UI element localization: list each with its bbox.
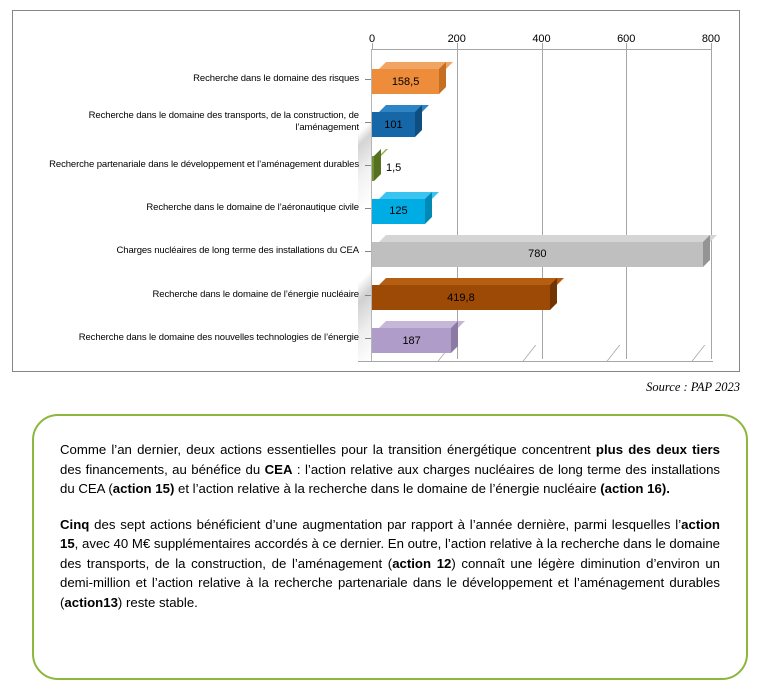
- category-tick-mark: [365, 165, 371, 166]
- commentary-box: Comme l’an dernier, deux actions essenti…: [32, 414, 748, 680]
- gridline: [457, 49, 458, 359]
- category-label: Recherche dans le domaine des nouvelles …: [29, 324, 359, 352]
- bar[interactable]: 780: [372, 235, 710, 260]
- bar-front-face: [372, 69, 439, 94]
- emphasis-text: action13: [64, 595, 118, 610]
- bar[interactable]: 1,5: [372, 149, 381, 174]
- emphasis-text: action 15): [113, 481, 175, 496]
- category-tick-mark: [365, 208, 371, 209]
- commentary-paragraph-2: Cinq des sept actions bénéficient d’une …: [60, 515, 720, 613]
- axis-tick-mark: [372, 43, 373, 49]
- bar[interactable]: 419,8: [372, 278, 557, 303]
- bar-value-label: 1,5: [386, 156, 426, 181]
- bar-side-face: [703, 235, 710, 267]
- category-label: Recherche dans le domaine de l’aéronauti…: [29, 194, 359, 222]
- commentary-paragraph-1: Comme l’an dernier, deux actions essenti…: [60, 440, 720, 499]
- floor-depth-line: [607, 345, 635, 361]
- emphasis-text: Cinq: [60, 517, 89, 532]
- bar[interactable]: 158,5: [372, 62, 446, 87]
- bar-side-face: [415, 105, 422, 137]
- floor-depth-line: [692, 345, 720, 361]
- bar-side-face: [439, 62, 446, 94]
- category-tick-mark: [365, 79, 371, 80]
- plot-area: 0200400600800 Recherche dans le domaine …: [13, 11, 739, 371]
- bar-front-face: [372, 199, 425, 224]
- source-note: Source : PAP 2023: [646, 380, 740, 395]
- category-label: Recherche dans le domaine des transports…: [29, 108, 359, 136]
- gridline: [542, 49, 543, 359]
- emphasis-text: plus des deux tiers: [596, 442, 720, 457]
- category-label: Recherche dans le domaine des risques: [29, 65, 359, 93]
- emphasis-text: CEA: [265, 462, 293, 477]
- bar-front-face: [372, 285, 550, 310]
- bar-side-face: [374, 149, 381, 181]
- emphasis-text: action 12: [392, 556, 451, 571]
- floor-depth-line: [522, 345, 550, 361]
- category-label: Recherche dans le domaine de l’énergie n…: [29, 281, 359, 309]
- gridline: [626, 49, 627, 359]
- category-tick-mark: [365, 251, 371, 252]
- category-tick-mark: [365, 338, 371, 339]
- bar-side-face: [425, 192, 432, 224]
- bar-front-face: [372, 242, 703, 267]
- chart-panel: 0200400600800 Recherche dans le domaine …: [12, 10, 740, 372]
- emphasis-text: (action 16).: [600, 481, 670, 496]
- bar[interactable]: 101: [372, 105, 422, 130]
- bar-top-face: [379, 235, 717, 242]
- category-label: Charges nucléaires de long terme des ins…: [29, 237, 359, 265]
- bar[interactable]: 187: [372, 321, 458, 346]
- bar-side-face: [550, 278, 557, 310]
- category-tick-mark: [365, 122, 371, 123]
- gridline: [711, 49, 712, 359]
- emphasis-text: action 15: [60, 517, 720, 552]
- bar-top-face: [379, 278, 564, 285]
- category-tick-mark: [365, 295, 371, 296]
- category-label: Recherche partenariale dans le développe…: [29, 151, 359, 179]
- bar-front-face: [372, 328, 451, 353]
- bar-front-face: [372, 112, 415, 137]
- chart-floor-line: [358, 361, 713, 362]
- chart-left-wall: [358, 49, 372, 361]
- bar[interactable]: 125: [372, 192, 432, 217]
